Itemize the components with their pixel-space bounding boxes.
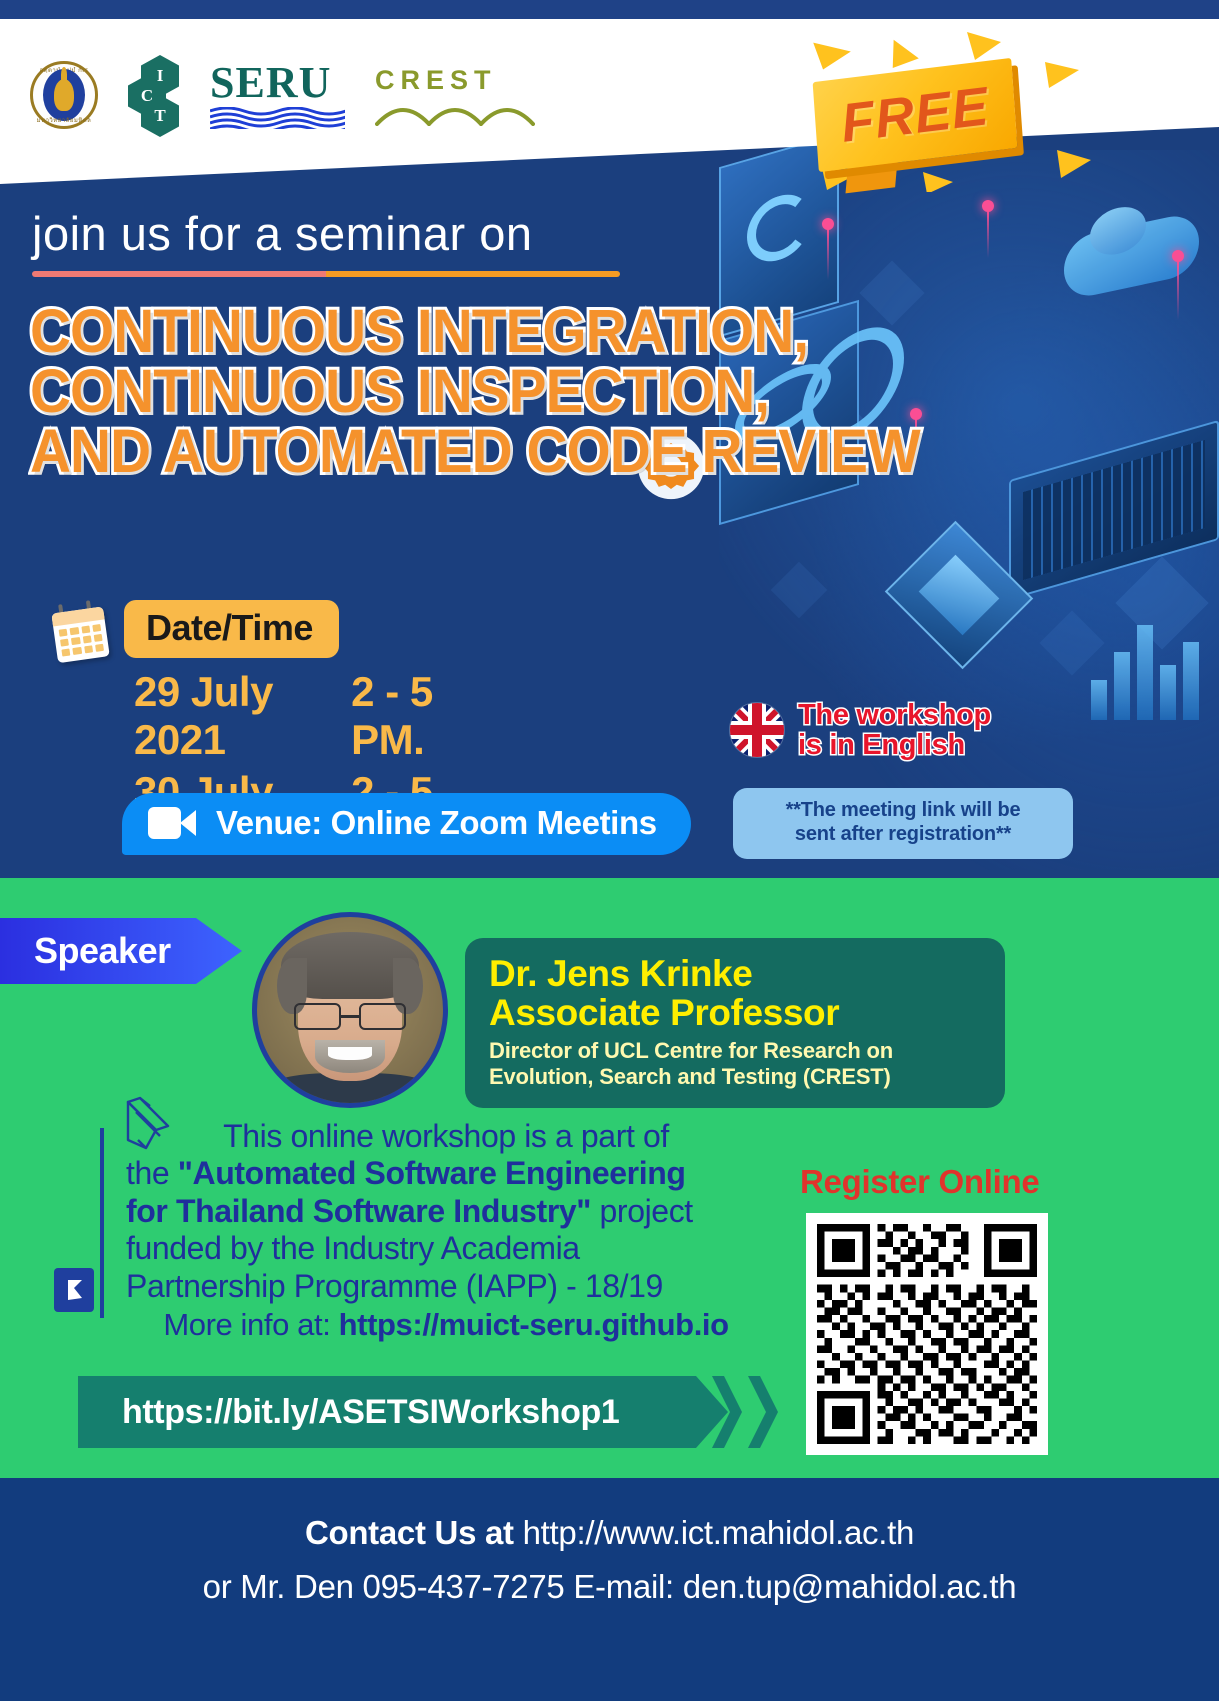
ict-logo-icon: I C T [128, 57, 180, 133]
hero-kicker-group: join us for a seminar on [32, 206, 620, 277]
description-line-4: funded by the Industry Academia [126, 1230, 766, 1267]
description-line-5: Partnership Programme (IAPP) - 18/19 [126, 1268, 766, 1305]
free-badge: FREE [795, 32, 1095, 192]
language-badge: The workshop is in English [730, 700, 991, 761]
language-badge-line-2: is in English [798, 730, 991, 760]
datetime-badge: Date/Time [124, 600, 339, 658]
datetime-row: 29 July 2021 2 - 5 PM. [134, 668, 482, 764]
description-rule [100, 1128, 104, 1318]
speaker-avatar [252, 912, 448, 1108]
poster-root: อตฺตานํ อุปมํ กเร มหาวิทยาลัยมหิดล I C T… [0, 0, 1219, 1701]
crest-arcs-icon [375, 98, 535, 126]
hero-title-line-1: CONTINUOUS INTEGRATION, [30, 303, 681, 359]
footer-contact-url[interactable]: http://www.ict.mahidol.ac.th [523, 1514, 914, 1551]
mahidol-university-seal-icon: อตฺตานํ อุปมํ กเร มหาวิทยาลัยมหิดล [30, 61, 98, 129]
description-line-3: for Thailand Software Industry" project [126, 1193, 766, 1230]
hero-kicker: join us for a seminar on [32, 206, 620, 261]
footer-contact-line: Contact Us at http://www.ict.mahidol.ac.… [0, 1514, 1219, 1552]
hero-title-line-2: CONTINUOUS INSPECTION, [30, 363, 681, 419]
description-block: This online workshop is a part of the "A… [126, 1118, 766, 1343]
speaker-role: Associate Professor [489, 993, 983, 1032]
bookmark-flag-icon [54, 1268, 94, 1312]
crest-wordmark: CREST [375, 65, 535, 96]
speaker-card: Dr. Jens Krinke Associate Professor Dire… [465, 938, 1005, 1108]
hero-title-line-3: AND AUTOMATED CODE REVIEW [30, 423, 681, 479]
free-badge-label: FREE [838, 75, 991, 155]
chevron-right-icon [712, 1376, 746, 1448]
speaker-affiliation-line-2: Evolution, Search and Testing (CREST) [489, 1064, 983, 1090]
seru-logo: SERU [210, 61, 345, 129]
datetime-date-1: 29 July 2021 [134, 668, 351, 764]
registration-link-banner[interactable]: https://bit.ly/ASETSIWorkshop1 [78, 1376, 728, 1448]
uk-flag-icon [730, 703, 784, 757]
qr-code[interactable] [806, 1213, 1048, 1455]
venue-pill[interactable]: Venue: Online Zoom Meetins [122, 793, 691, 855]
tech-illustration [719, 150, 1219, 870]
meeting-link-note-line-1: **The meeting link will be [747, 798, 1059, 822]
speaker-affiliation-line-1: Director of UCL Centre for Research on [489, 1038, 983, 1064]
seal-bottom-text: มหาวิทยาลัยมหิดล [33, 115, 95, 125]
footer-phone-email: or Mr. Den 095-437-7275 E-mail: den.tup@… [0, 1568, 1219, 1606]
meeting-link-note: **The meeting link will be sent after re… [733, 788, 1073, 859]
description-line-1: This online workshop is a part of [126, 1118, 766, 1155]
meeting-link-note-line-2: sent after registration** [747, 822, 1059, 846]
venue-label: Venue: Online Zoom Meetins [216, 804, 657, 842]
hero-divider [32, 271, 620, 277]
crest-logo: CREST [375, 65, 535, 126]
register-title: Register Online [800, 1163, 1039, 1201]
calendar-icon [44, 596, 114, 666]
footer: Contact Us at http://www.ict.mahidol.ac.… [0, 1478, 1219, 1701]
speaker-name: Dr. Jens Krinke [489, 954, 983, 993]
top-accent-bar [0, 0, 1219, 19]
datetime-time-1: 2 - 5 PM. [351, 668, 482, 764]
more-info-url[interactable]: https://muict-seru.github.io [339, 1307, 729, 1342]
zoom-video-icon [148, 807, 196, 839]
language-badge-text: The workshop is in English [798, 700, 991, 761]
footer-contact-prefix: Contact Us at [305, 1514, 523, 1551]
qr-code-image [817, 1224, 1037, 1444]
pencil-icon [116, 1096, 186, 1158]
speaker-ribbon: Speaker [0, 918, 242, 984]
seru-waves-icon [210, 107, 345, 129]
datetime-badge-label: Date/Time [146, 607, 313, 648]
language-badge-line-1: The workshop [798, 700, 991, 730]
logo-row: อตฺตานํ อุปมํ กเร มหาวิทยาลัยมหิดล I C T… [30, 57, 535, 133]
speaker-ribbon-label: Speaker [34, 930, 171, 972]
chevron-right-icon [748, 1376, 782, 1448]
hero-title: CONTINUOUS INTEGRATION, CONTINUOUS INSPE… [30, 303, 730, 483]
description-more-info: More info at: https://muict-seru.github.… [126, 1307, 766, 1343]
registration-link-url: https://bit.ly/ASETSIWorkshop1 [122, 1393, 619, 1432]
description-line-2: the "Automated Software Engineering [126, 1155, 766, 1192]
seru-wordmark: SERU [210, 61, 345, 105]
